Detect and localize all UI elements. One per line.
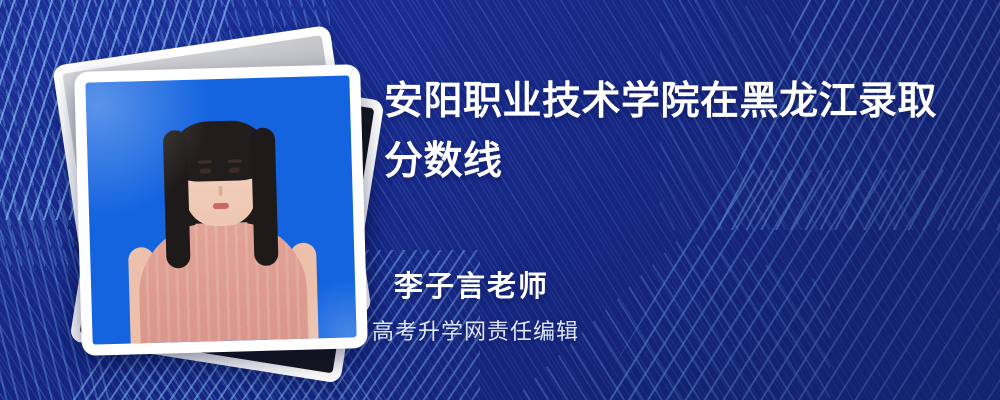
- portrait-photo: [85, 75, 356, 344]
- portrait-dress: [137, 221, 308, 344]
- banner-canvas: 安阳职业技术学院在黑龙江录取分数线 李子言老师 高考升学网责任编辑: [0, 0, 1000, 400]
- page-title: 安阳职业技术学院在黑龙江录取分数线: [384, 72, 974, 192]
- portrait-nose: [218, 186, 222, 196]
- author-role: 高考升学网责任编辑: [372, 318, 579, 348]
- photo-card-front: [74, 64, 368, 356]
- portrait-eye-left: [200, 168, 211, 173]
- photo-glare-bottom-right: [292, 279, 357, 344]
- portrait-mouth: [213, 203, 229, 209]
- photo-card-stack: [48, 38, 348, 348]
- author-name: 李子言老师: [394, 268, 549, 304]
- portrait-eye-right: [229, 168, 240, 173]
- banner-text-block: 安阳职业技术学院在黑龙江录取分数线 李子言老师 高考升学网责任编辑: [384, 0, 984, 400]
- portrait-hair-side-right: [251, 127, 279, 266]
